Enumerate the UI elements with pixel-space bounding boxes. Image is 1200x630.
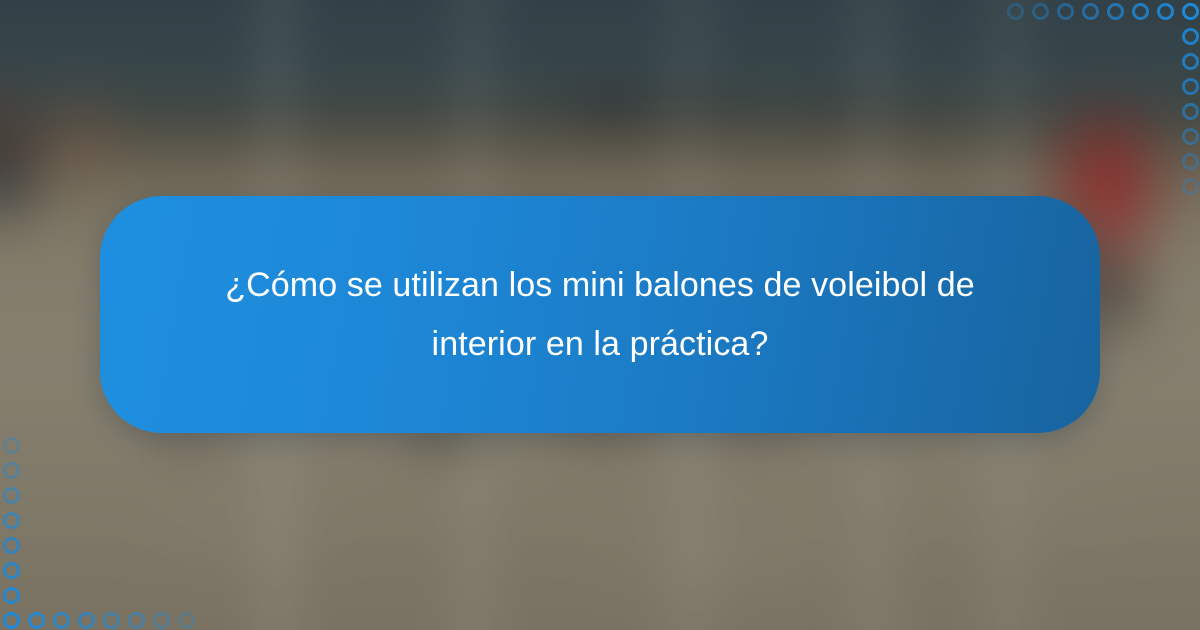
question-title: ¿Cómo se utilizan los mini balones de vo… (150, 256, 1050, 373)
question-card: ¿Cómo se utilizan los mini balones de vo… (100, 196, 1100, 433)
og-card-canvas: ¿Cómo se utilizan los mini balones de vo… (0, 0, 1200, 630)
